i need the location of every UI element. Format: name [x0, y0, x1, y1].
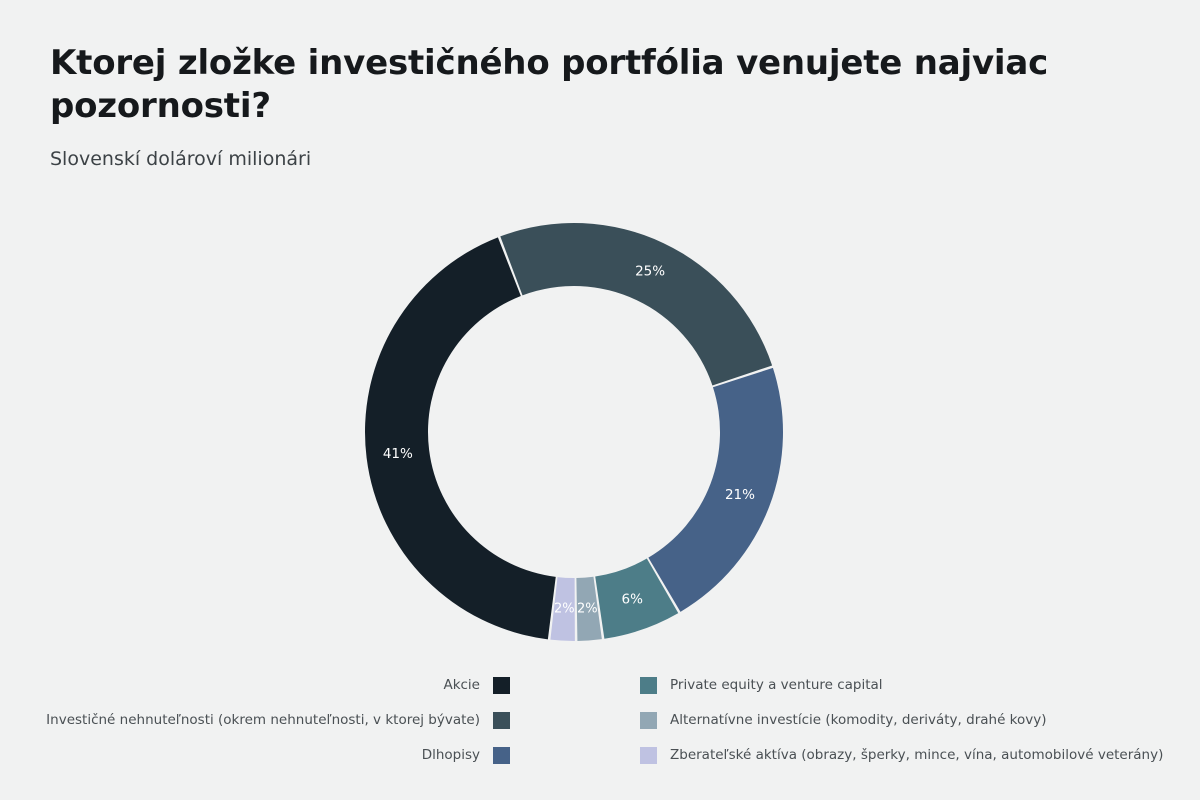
legend-item[interactable]: Dlhopisy	[40, 738, 510, 773]
legend-column-right: Private equity a venture capitalAlternat…	[640, 668, 1170, 773]
legend-item[interactable]: Akcie	[40, 668, 510, 703]
legend-item[interactable]: Zberateľské aktíva (obrazy, šperky, minc…	[640, 738, 1170, 773]
legend-swatch-icon	[640, 677, 657, 694]
legend-swatch-icon	[493, 712, 510, 729]
donut-chart: 25%21%6%2%2%41%	[364, 222, 784, 642]
legend-item-label: Zberateľské aktíva (obrazy, šperky, minc…	[670, 749, 1163, 763]
page-title: Ktorej zložke investičného portfólia ven…	[50, 42, 1060, 128]
donut-slice-group	[365, 223, 783, 641]
legend-item-label: Akcie	[443, 679, 480, 693]
chart-legend: AkcieInvestičné nehnuteľnosti (okrem neh…	[0, 668, 1200, 778]
legend-item[interactable]: Alternatívne investície (komodity, deriv…	[640, 703, 1170, 738]
chart-subtitle: Slovenskí dolároví milionári	[50, 148, 1060, 171]
legend-swatch-icon	[640, 747, 657, 764]
legend-item-label: Dlhopisy	[422, 749, 480, 763]
chart-plot-area: 25%21%6%2%2%41%	[0, 200, 1200, 660]
slice-value-label-private-equity: 6%	[622, 592, 644, 608]
slice-value-label-zberatelske-aktiva: 2%	[554, 602, 575, 617]
slice-value-label-dlhopisy: 21%	[725, 487, 755, 503]
slice-value-label-alternativne-investicie: 2%	[577, 602, 598, 617]
legend-swatch-icon	[493, 677, 510, 694]
donut-slice-akcie[interactable]	[365, 237, 556, 639]
legend-item-label: Alternatívne investície (komodity, deriv…	[670, 714, 1047, 728]
legend-item-label: Investičné nehnuteľnosti (okrem nehnuteľ…	[46, 714, 480, 728]
donut-slice-investicne-nehnutelnosti[interactable]	[500, 223, 772, 386]
donut-slice-dlhopisy[interactable]	[648, 368, 783, 612]
chart-header: Ktorej zložke investičného portfólia ven…	[50, 42, 1060, 170]
slice-value-label-akcie: 41%	[383, 446, 413, 462]
slice-value-label-investicne-nehnutelnosti: 25%	[635, 264, 665, 280]
legend-item[interactable]: Investičné nehnuteľnosti (okrem nehnuteľ…	[40, 703, 510, 738]
chart-page: Ktorej zložke investičného portfólia ven…	[0, 0, 1200, 800]
legend-swatch-icon	[640, 712, 657, 729]
legend-item-label: Private equity a venture capital	[670, 679, 883, 693]
donut-svg: 25%21%6%2%2%41%	[364, 222, 784, 642]
legend-swatch-icon	[493, 747, 510, 764]
legend-column-left: AkcieInvestičné nehnuteľnosti (okrem neh…	[40, 668, 510, 773]
legend-item[interactable]: Private equity a venture capital	[640, 668, 1170, 703]
